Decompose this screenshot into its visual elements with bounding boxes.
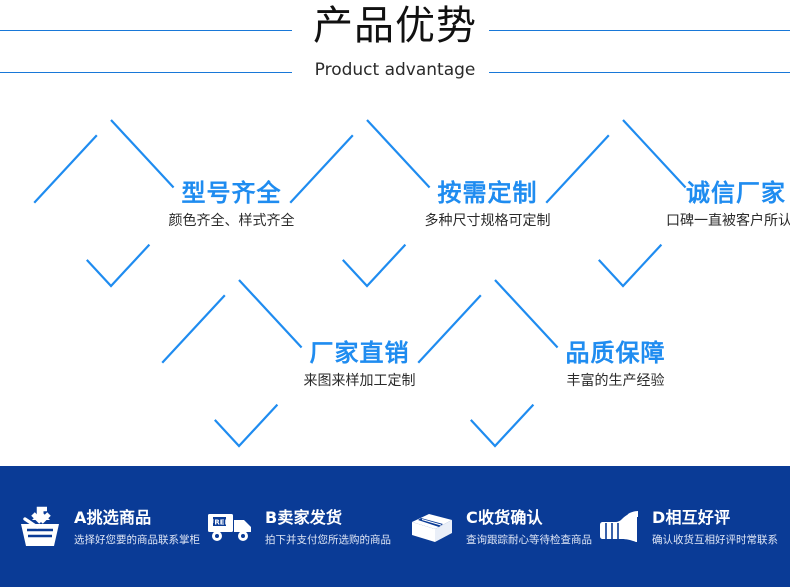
process-step-text-0: A挑选商品 选择好您要的商品联系掌柜 — [74, 507, 200, 548]
delivery-truck-icon: FREE — [207, 504, 255, 550]
advantage-text-2: 诚信厂家 口碑一直被客户所认可 — [636, 178, 790, 231]
process-step-desc-3: 确认收货互相好评时常联系 — [652, 532, 778, 548]
advantage-card-4: 品质保障 丰富的生产经验 — [416, 278, 574, 448]
process-step-2: C收货确认 查询跟踪耐心等待检查商品 — [408, 498, 592, 556]
process-step-0: A挑选商品 选择好您要的商品联系掌柜 — [16, 498, 200, 556]
advantage-title-4: 品质保障 — [508, 338, 723, 368]
process-bar: A挑选商品 选择好您要的商品联系掌柜 FREE B卖家发货 拍下 — [0, 466, 790, 587]
process-step-title-0: A挑选商品 — [74, 507, 200, 529]
advantage-text-4: 品质保障 丰富的生产经验 — [508, 338, 723, 391]
advantage-card-2: 诚信厂家 口碑一直被客户所认可 — [544, 118, 702, 288]
product-advantage-page: 产品优势 Product advantage 型号齐全 颜色齐全、样式齐全 按需… — [0, 0, 790, 587]
section-header: 产品优势 Product advantage — [0, 0, 790, 100]
advantage-diamond-grid: 型号齐全 颜色齐全、样式齐全 按需定制 多种尺寸规格可定制 诚信厂家 口碑一直被… — [0, 100, 790, 460]
thumbs-up-icon — [594, 504, 642, 550]
shopping-basket-icon — [16, 504, 64, 550]
advantage-card-0: 型号齐全 颜色齐全、样式齐全 — [32, 118, 190, 288]
process-step-text-1: B卖家发货 拍下并支付您所选购的商品 — [265, 507, 391, 548]
page-title: 产品优势 — [0, 2, 790, 50]
process-step-title-2: C收货确认 — [466, 507, 592, 529]
process-step-desc-0: 选择好您要的商品联系掌柜 — [74, 532, 200, 548]
process-step-title-1: B卖家发货 — [265, 507, 391, 529]
process-step-title-3: D相互好评 — [652, 507, 778, 529]
process-step-1: FREE B卖家发货 拍下并支付您所选购的商品 — [207, 498, 391, 556]
process-step-desc-1: 拍下并支付您所选购的商品 — [265, 532, 391, 548]
advantage-subtitle-2: 口碑一直被客户所认可 — [636, 211, 790, 231]
page-subtitle: Product advantage — [0, 58, 790, 82]
advantage-card-3: 厂家直销 来图来样加工定制 — [160, 278, 318, 448]
advantage-subtitle-4: 丰富的生产经验 — [508, 371, 723, 391]
advantage-card-1: 按需定制 多种尺寸规格可定制 — [288, 118, 446, 288]
advantage-title-2: 诚信厂家 — [636, 178, 790, 208]
process-step-text-3: D相互好评 确认收货互相好评时常联系 — [652, 507, 778, 548]
package-box-icon — [408, 504, 456, 550]
process-step-desc-2: 查询跟踪耐心等待检查商品 — [466, 532, 592, 548]
process-step-3: D相互好评 确认收货互相好评时常联系 — [594, 498, 778, 556]
svg-text:FREE: FREE — [210, 519, 230, 527]
process-step-text-2: C收货确认 查询跟踪耐心等待检查商品 — [466, 507, 592, 548]
